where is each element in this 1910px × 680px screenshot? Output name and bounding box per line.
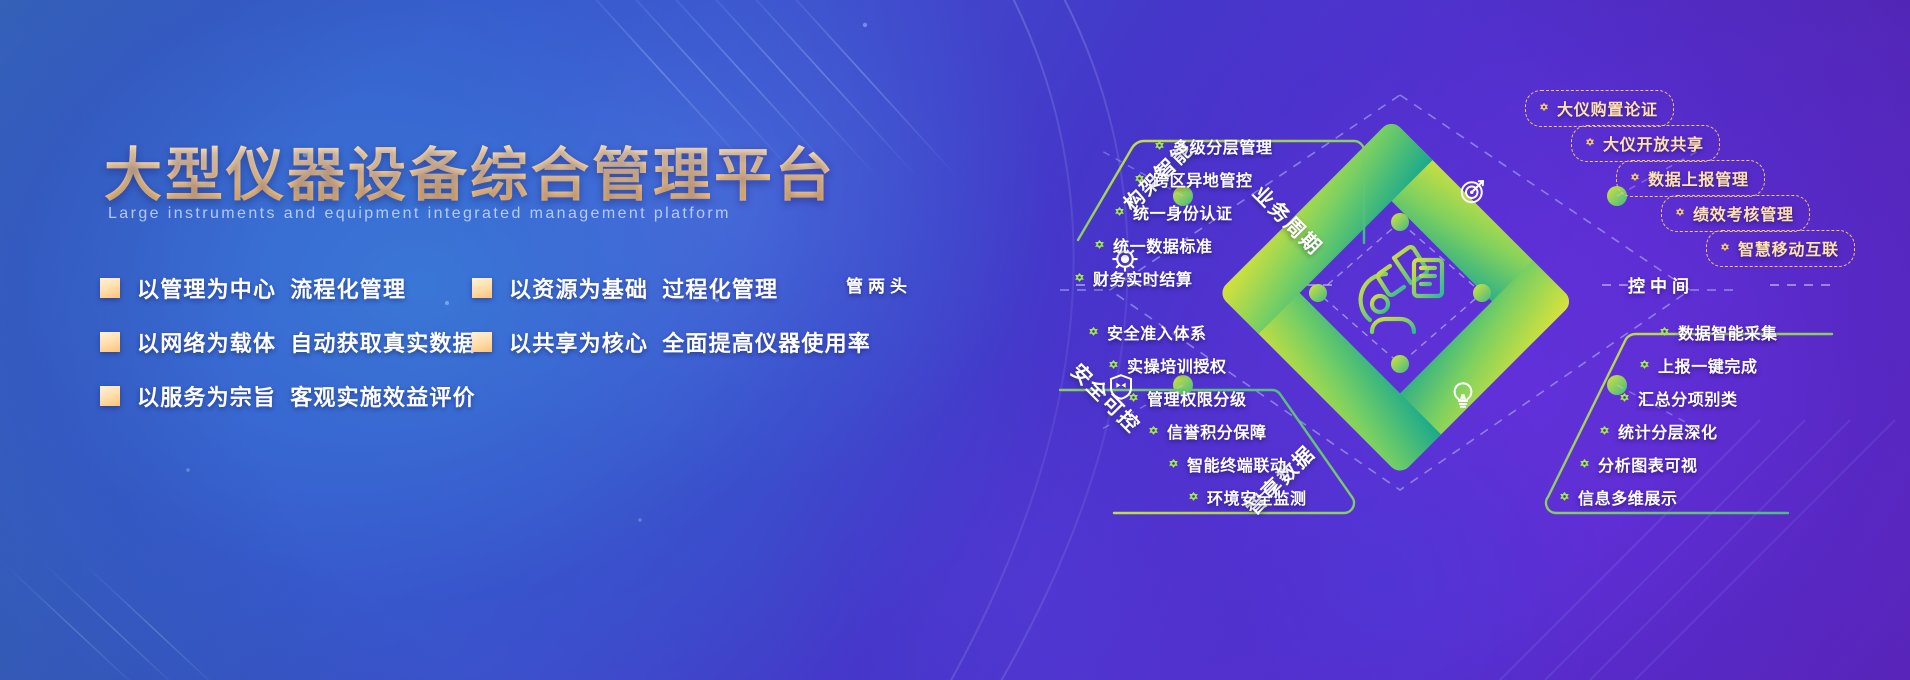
list-item: 环境安全监测: [1187, 485, 1307, 509]
feature-label: 分析图表可视: [1598, 452, 1698, 476]
feature-label: 统一身份认证: [1133, 200, 1233, 224]
badge[interactable]: 数据上报管理: [1616, 160, 1765, 197]
flower-star-icon: [1133, 173, 1146, 186]
section-label-left: 管两头: [846, 272, 912, 297]
badge-label: 大仪开放共享: [1603, 131, 1704, 155]
flower-star-icon: [1113, 206, 1126, 219]
list-item: 统一身份认证: [1113, 200, 1233, 224]
flower-star-icon: [1584, 137, 1596, 149]
list-item: 智能终端联动: [1167, 452, 1287, 476]
badge[interactable]: 智慧移动互联: [1706, 230, 1855, 267]
flower-star-icon: [1167, 458, 1180, 471]
flower-star-icon: [1073, 272, 1086, 285]
flower-star-icon: [1598, 425, 1611, 438]
flower-star-icon: [1638, 359, 1651, 372]
flower-star-icon: [1629, 172, 1641, 184]
list-item: 统计分层深化: [1598, 419, 1718, 443]
badge-label: 数据上报管理: [1648, 166, 1749, 190]
feature-label: 信誉积分保障: [1167, 419, 1267, 443]
flower-star-icon: [1558, 491, 1571, 504]
list-item: 统一数据标准: [1093, 233, 1213, 257]
feature-label: 数据智能采集: [1678, 320, 1778, 344]
feature-label: 安全准入体系: [1107, 320, 1207, 344]
list-item: 数据智能采集: [1658, 320, 1778, 344]
feature-label: 信息多维展示: [1578, 485, 1678, 509]
list-item: 信誉积分保障: [1147, 419, 1267, 443]
flower-star-icon: [1107, 359, 1120, 372]
promo-banner: 大型仪器设备综合管理平台 Large instruments and equip…: [0, 0, 1910, 680]
badge[interactable]: 大仪开放共享: [1571, 125, 1720, 162]
flower-star-icon: [1719, 242, 1731, 254]
feature-label: 统计分层深化: [1618, 419, 1718, 443]
feature-label: 管理权限分级: [1147, 386, 1247, 410]
feature-label: 跨区异地管控: [1153, 167, 1253, 191]
list-item: 分析图表可视: [1578, 452, 1698, 476]
list-item: 实操培训授权: [1107, 353, 1227, 377]
flower-star-icon: [1578, 458, 1591, 471]
feature-label: 环境安全监测: [1207, 485, 1307, 509]
flower-star-icon: [1658, 326, 1671, 339]
list-item: 汇总分项别类: [1618, 386, 1738, 410]
flower-star-icon: [1127, 392, 1140, 405]
badge[interactable]: 绩效考核管理: [1661, 195, 1810, 232]
flower-star-icon: [1147, 425, 1160, 438]
flower-star-icon: [1674, 207, 1686, 219]
feature-label: 上报一键完成: [1658, 353, 1758, 377]
flower-star-icon: [1153, 140, 1166, 153]
list-item: 上报一键完成: [1638, 353, 1758, 377]
flower-star-icon: [1187, 491, 1200, 504]
list-item: 跨区异地管控: [1133, 167, 1253, 191]
flower-star-icon: [1093, 239, 1106, 252]
feature-label: 统一数据标准: [1113, 233, 1213, 257]
list-item: 多级分层管理: [1153, 134, 1273, 158]
feature-label: 汇总分项别类: [1638, 386, 1738, 410]
list-item: 安全准入体系: [1087, 320, 1207, 344]
lightbulb-icon: [1448, 380, 1478, 415]
list-item: 信息多维展示: [1558, 485, 1678, 509]
badge-label: 智慧移动互联: [1738, 236, 1839, 260]
flower-star-icon: [1618, 392, 1631, 405]
feature-label: 多级分层管理: [1173, 134, 1273, 158]
flower-star-icon: [1087, 326, 1100, 339]
list-item: 财务实时结算: [1073, 266, 1193, 290]
target-icon: [1458, 176, 1488, 211]
feature-label: 实操培训授权: [1127, 353, 1227, 377]
feature-label: 财务实时结算: [1093, 266, 1193, 290]
badge-label: 大仪购置论证: [1557, 96, 1658, 120]
list-item: 管理权限分级: [1127, 386, 1247, 410]
badge[interactable]: 大仪购置论证: [1525, 90, 1674, 127]
section-label-right: 控中间: [1628, 272, 1694, 297]
badge-label: 绩效考核管理: [1693, 201, 1794, 225]
flower-star-icon: [1538, 102, 1550, 114]
feature-label: 智能终端联动: [1187, 452, 1287, 476]
